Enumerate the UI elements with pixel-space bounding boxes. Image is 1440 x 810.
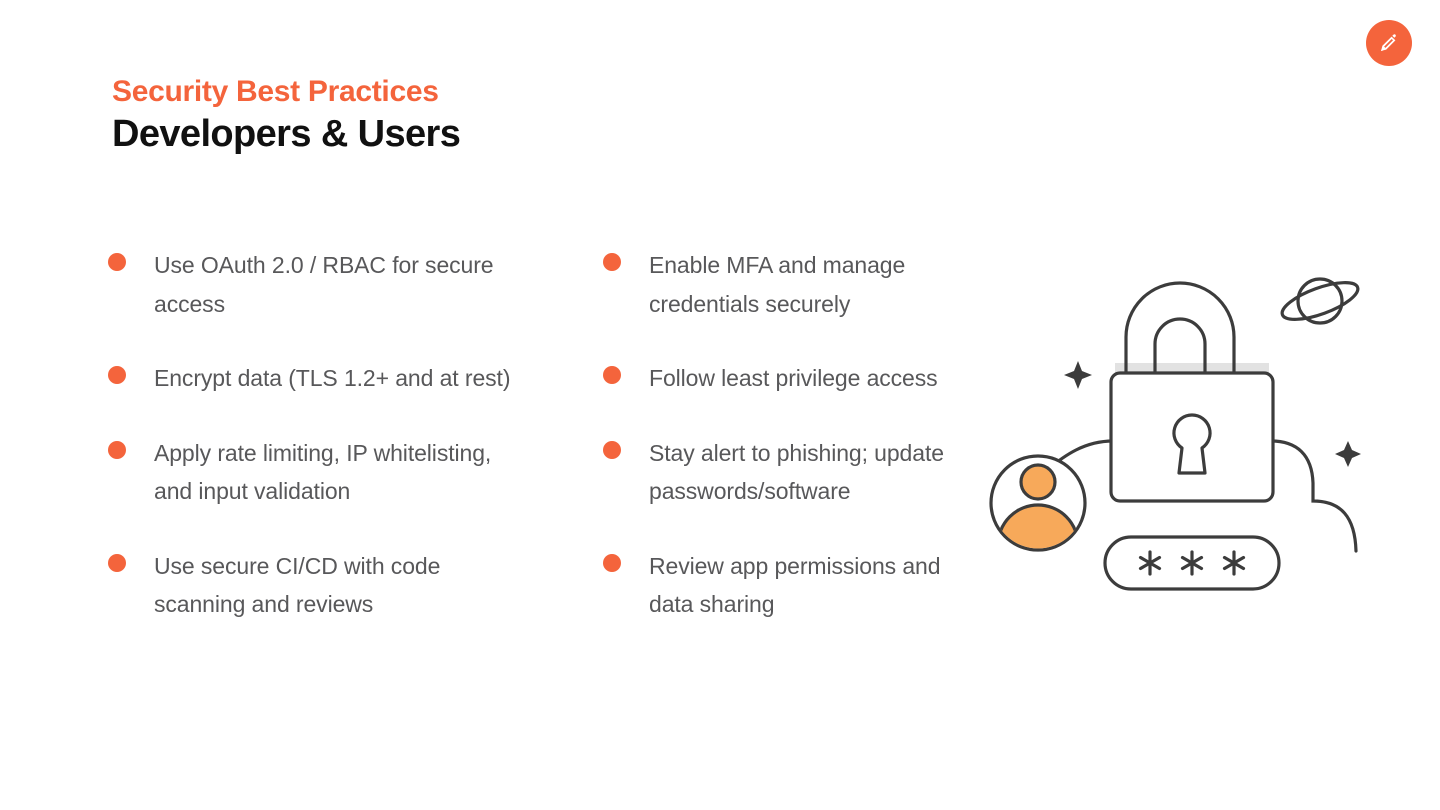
bullet-text: Use secure CI/CD with code scanning and … [154,547,513,624]
user-avatar-icon [991,456,1085,585]
sparkle-icon [1064,361,1092,389]
bullet-dot-icon [603,366,621,384]
list-item: Enable MFA and manage credentials secure… [603,246,1008,323]
bullet-text: Apply rate limiting, IP whitelisting, an… [154,434,513,511]
page-title: Developers & Users [112,112,460,158]
bullet-text: Use OAuth 2.0 / RBAC for secure access [154,246,513,323]
pen-nib-icon [1376,30,1402,56]
brand-badge[interactable] [1366,20,1412,66]
avatar-head [1021,465,1055,499]
bullet-dot-icon [108,441,126,459]
list-item: Follow least privilege access [603,359,1008,398]
heading-block: Security Best Practices Developers & Use… [112,74,460,158]
bullet-dot-icon [603,441,621,459]
list-item: Stay alert to phishing; update passwords… [603,434,1008,511]
bullet-columns: Use OAuth 2.0 / RBAC for secure access E… [108,246,1008,624]
padlock-keyhole [1174,415,1210,473]
padlock-icon [1111,283,1273,501]
list-item: Use secure CI/CD with code scanning and … [108,547,513,624]
list-item: Encrypt data (TLS 1.2+ and at rest) [108,359,513,398]
bullet-text: Stay alert to phishing; update passwords… [649,434,989,511]
bullet-text: Enable MFA and manage credentials secure… [649,246,989,323]
users-column: Enable MFA and manage credentials secure… [603,246,1008,624]
bullet-dot-icon [603,253,621,271]
list-item: Use OAuth 2.0 / RBAC for secure access [108,246,513,323]
list-item: Review app permissions and data sharing [603,547,1008,624]
security-lock-illustration [975,255,1385,615]
bullet-dot-icon [603,554,621,572]
bullet-dot-icon [108,554,126,572]
sparkle-icon [1335,441,1361,467]
slide-root: Security Best Practices Developers & Use… [0,0,1440,810]
bullet-text: Follow least privilege access [649,359,938,398]
bullet-text: Encrypt data (TLS 1.2+ and at rest) [154,359,510,398]
password-field-icon [1105,537,1279,589]
bullet-dot-icon [108,366,126,384]
list-item: Apply rate limiting, IP whitelisting, an… [108,434,513,511]
eyebrow-text: Security Best Practices [112,74,460,109]
avatar-body [998,505,1078,585]
developers-column: Use OAuth 2.0 / RBAC for secure access E… [108,246,513,624]
bullet-text: Review app permissions and data sharing [649,547,989,624]
bullet-dot-icon [108,253,126,271]
saturn-planet-icon [1278,275,1362,327]
padlock-shackle-outer [1126,283,1234,376]
